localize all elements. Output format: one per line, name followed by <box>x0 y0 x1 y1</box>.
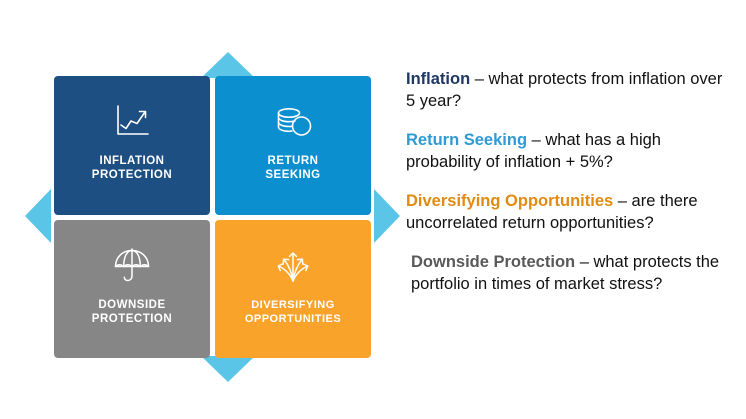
umbrella-icon <box>112 244 152 286</box>
quadrant-label: RETURN SEEKING <box>265 154 320 182</box>
line-chart-growth-icon <box>112 100 152 142</box>
description-diversifying-opportunities: Diversifying Opportunities – are there u… <box>406 190 736 234</box>
description-downside-protection: Downside Protection – what protects the … <box>406 251 736 295</box>
quadrant-downside-protection[interactable]: DOWNSIDE PROTECTION <box>54 220 210 359</box>
slide-canvas: INFLATION PROTECTION RETURN SEEKING <box>0 0 746 419</box>
description-list: Inflation – what protects from inflation… <box>406 68 736 295</box>
term-downside-protection: Downside Protection <box>411 253 575 271</box>
quadrant-inflation-protection[interactable]: INFLATION PROTECTION <box>54 76 210 215</box>
term-diversifying-opportunities: Diversifying Opportunities <box>406 192 613 210</box>
quadrant-label: DOWNSIDE PROTECTION <box>92 298 172 326</box>
term-inflation: Inflation <box>406 70 470 88</box>
quadrant-label: DIVERSIFYING OPPORTUNITIES <box>245 298 341 326</box>
arrow-right-icon <box>374 189 400 243</box>
coins-stack-icon <box>272 100 314 142</box>
arrow-up-icon <box>201 52 255 78</box>
quadrant-diagram: INFLATION PROTECTION RETURN SEEKING <box>25 52 400 382</box>
quadrant-label: INFLATION PROTECTION <box>92 154 172 182</box>
quadrant-return-seeking[interactable]: RETURN SEEKING <box>215 76 371 215</box>
term-return-seeking: Return Seeking <box>406 131 527 149</box>
arrow-left-icon <box>25 189 51 243</box>
diverging-arrows-icon <box>270 244 316 286</box>
quadrant-diversifying-opportunities[interactable]: DIVERSIFYING OPPORTUNITIES <box>215 220 371 359</box>
quadrant-grid: INFLATION PROTECTION RETURN SEEKING <box>54 76 371 358</box>
description-inflation: Inflation – what protects from inflation… <box>406 68 736 112</box>
arrow-down-icon <box>201 356 255 382</box>
description-return-seeking: Return Seeking – what has a high probabi… <box>406 129 736 173</box>
